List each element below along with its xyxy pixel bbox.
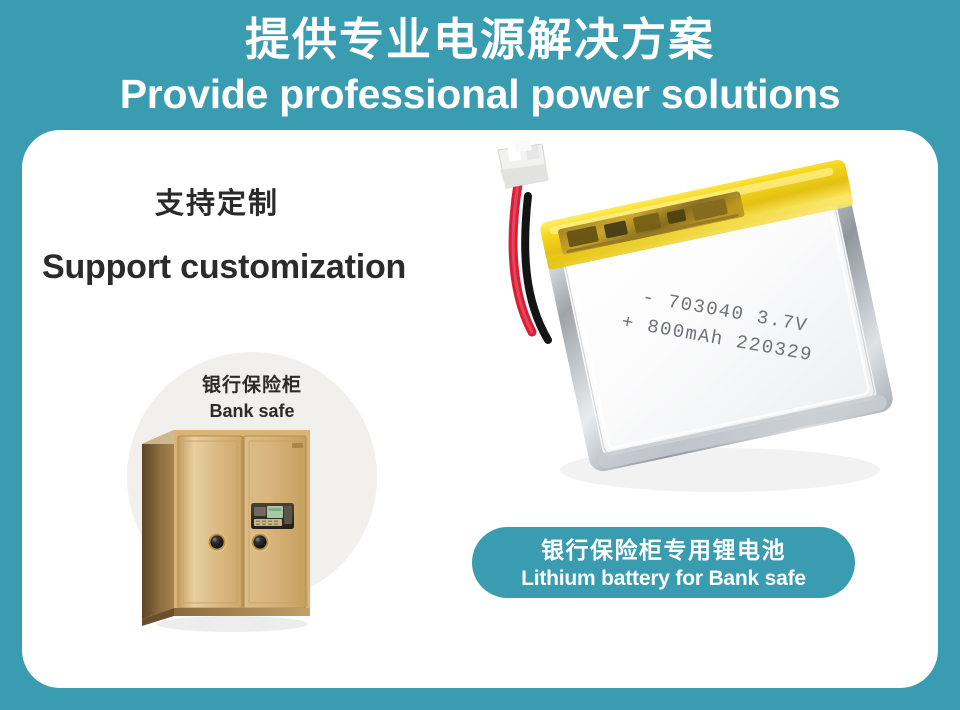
- header-title-cn: 提供专业电源解决方案: [0, 14, 960, 66]
- safe-keypad-lcd: [267, 506, 283, 518]
- safe-keypad-right-pad: [284, 506, 292, 524]
- battery-wire-harness: [513, 184, 548, 340]
- battery-cell-body: - 703040 3.7V + 800mAh 220329: [539, 158, 897, 473]
- safe-keypad-lcd-line: [269, 508, 282, 511]
- safe-side-panel: [142, 430, 174, 619]
- support-customization-en: Support customization: [42, 245, 406, 289]
- safe-brand-logo: [292, 443, 303, 448]
- safe-keypad-left-pad: [254, 507, 266, 516]
- safe-base: [174, 608, 310, 616]
- poster-root: 提供专业电源解决方案 Provide professional power so…: [0, 0, 960, 710]
- safe-door-seam: [242, 436, 245, 608]
- bank-safe-battery-banner: 银行保险柜专用锂电池 Lithium battery for Bank safe: [472, 527, 855, 598]
- battery-jst-connector: [498, 140, 548, 188]
- safe-shadow: [156, 616, 308, 632]
- safe-door-left: [178, 436, 242, 608]
- safe-knob-right: [250, 532, 270, 552]
- banner-text-en: Lithium battery for Bank safe: [472, 565, 855, 592]
- poster-header: 提供专业电源解决方案 Provide professional power so…: [0, 0, 960, 128]
- support-customization-cn: 支持定制: [155, 186, 279, 222]
- bank-safe-label-cn: 银行保险柜: [127, 374, 377, 398]
- lithium-battery-icon: - 703040 3.7V + 800mAh 220329: [470, 140, 920, 530]
- bank-safe-icon: [120, 420, 340, 650]
- safe-knob-left: [207, 532, 227, 552]
- header-title-en: Provide professional power solutions: [0, 70, 960, 118]
- banner-text-cn: 银行保险柜专用锂电池: [472, 536, 855, 565]
